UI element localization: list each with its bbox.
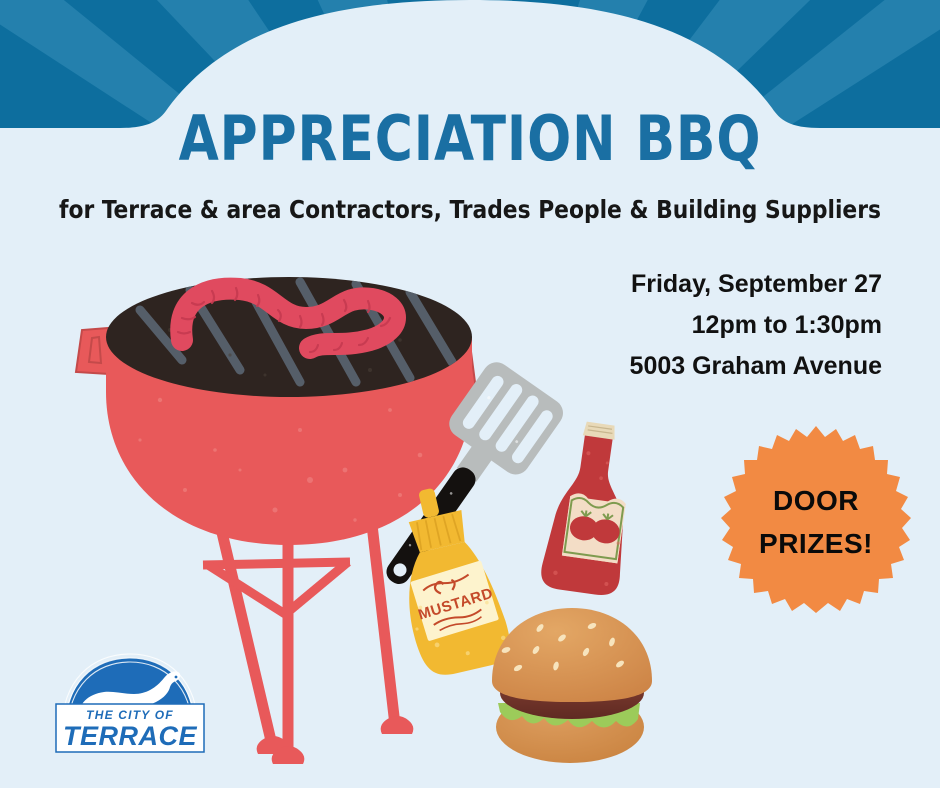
burger-top-bun: [492, 608, 652, 702]
city-of-terrace-logo[interactable]: THE CITY OF TERRACE: [52, 652, 208, 764]
grill-brace: [203, 562, 350, 614]
logo-line-small: THE CITY OF: [66, 708, 194, 722]
bear-eye: [175, 676, 178, 679]
grill-foot: [381, 716, 414, 734]
ketchup-bottle: [539, 418, 641, 597]
logo-line-large: TERRACE: [62, 723, 198, 750]
starburst-shape: [716, 422, 916, 622]
burger-illustration: [492, 608, 652, 763]
grill-handle-left: [76, 328, 110, 374]
poster-canvas: APPRECIATION BBQ for Terrace & area Cont…: [0, 0, 940, 788]
door-prizes-badge[interactable]: DOOR PRIZES!: [716, 422, 916, 622]
mustard-nozzle-tip: [418, 488, 440, 519]
